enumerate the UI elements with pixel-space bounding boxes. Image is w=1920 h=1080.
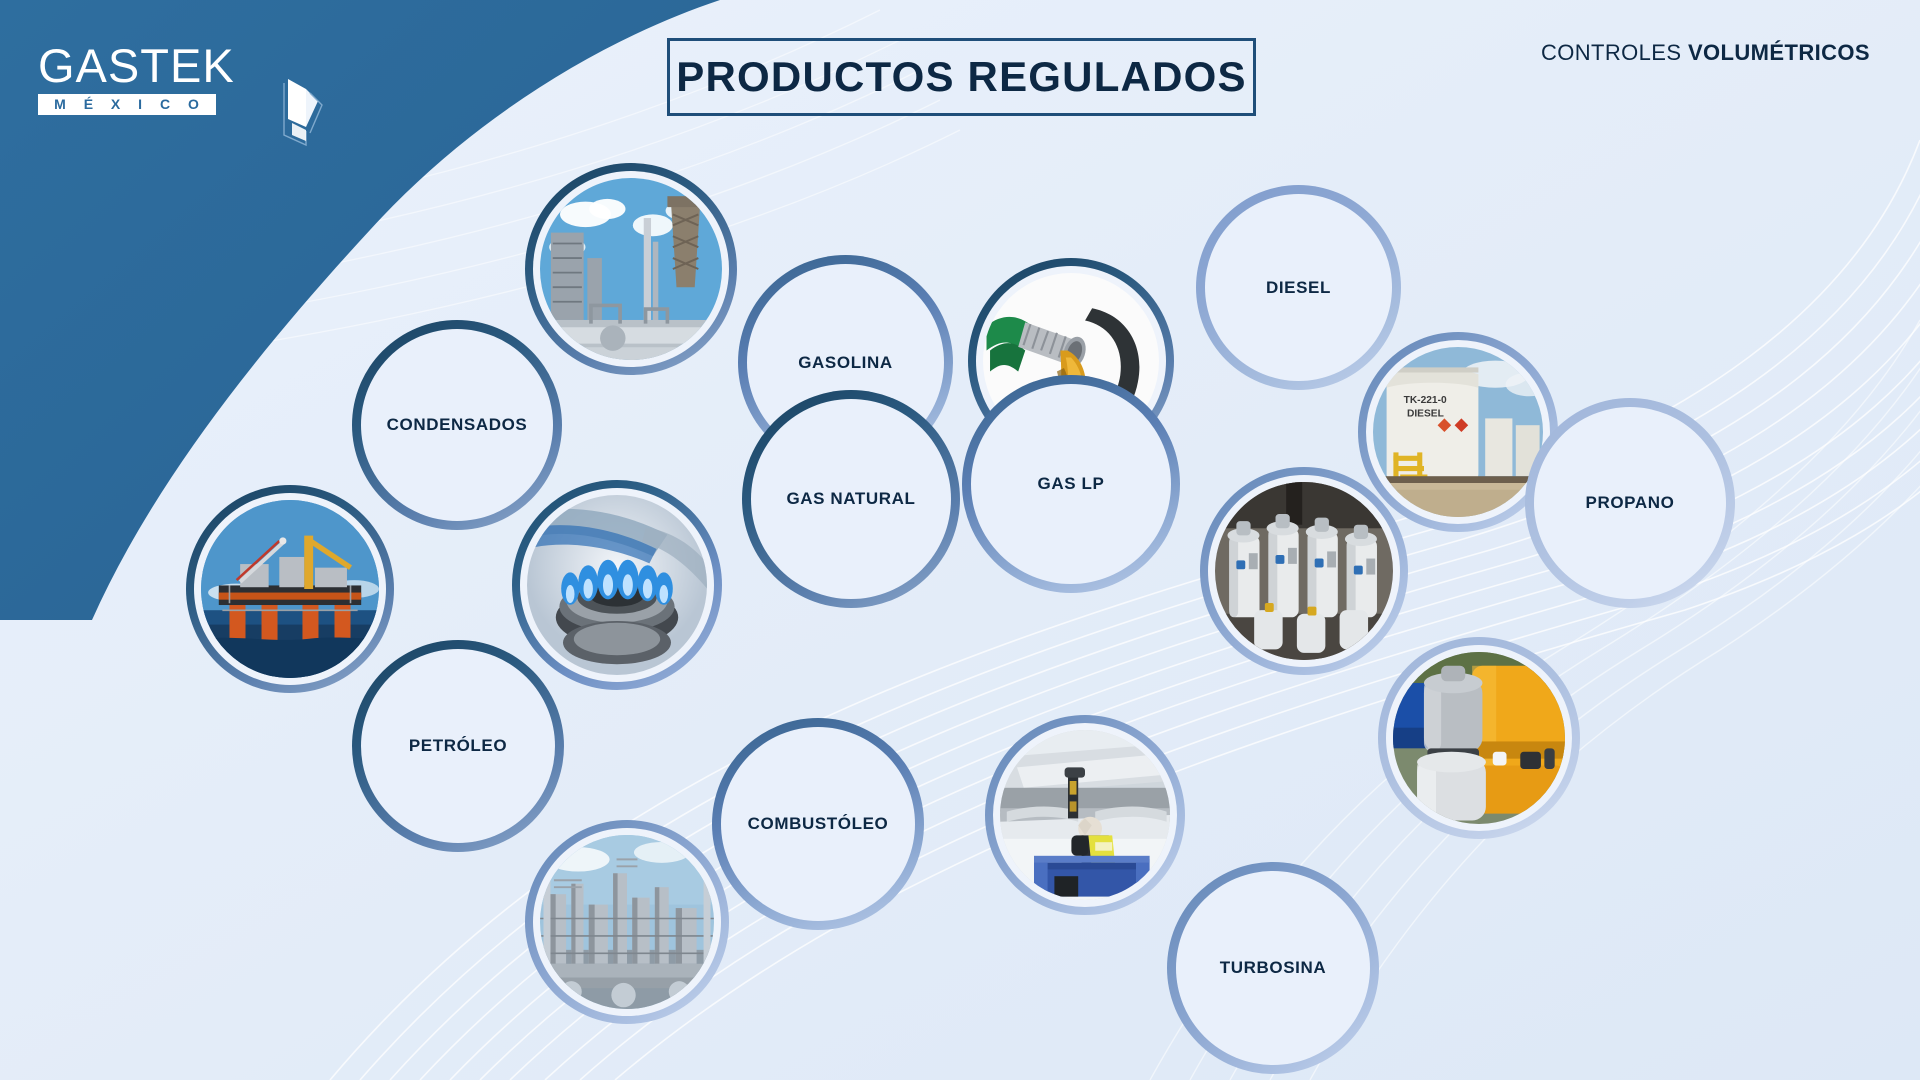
circle-inner: CONDENSADOS — [361, 329, 553, 521]
product-label-gas-natural: GAS NATURAL — [786, 489, 915, 509]
product-label-combustoleo: COMBUSTÓLEO — [748, 814, 889, 834]
tagline-bold: VOLUMÉTRICOS — [1688, 40, 1870, 65]
photo-ring-gap — [533, 171, 729, 367]
circle-inner: PETRÓLEO — [361, 649, 555, 843]
product-label-propano: PROPANO — [1586, 493, 1675, 513]
logo-subtitle-bar: M É X I C O — [38, 94, 216, 115]
circle-inner: COMBUSTÓLEO — [721, 727, 915, 921]
product-label-gasolina: GASOLINA — [798, 353, 893, 373]
circle-inner: PROPANO — [1534, 407, 1726, 599]
logo-subtitle: M É X I C O — [38, 97, 216, 111]
gas-plant-photo — [540, 178, 722, 360]
brand-logo: GASTEK M É X I C O — [38, 42, 318, 142]
photo-ring-gap — [1386, 645, 1572, 831]
gas-burner-photo — [527, 495, 707, 675]
product-label-gas-lp: GAS LP — [1038, 474, 1105, 494]
product-circle-combustoleo[interactable]: COMBUSTÓLEO — [712, 718, 924, 930]
photo-ring-gap — [1208, 475, 1400, 667]
photo-circle-gas-burner — [512, 480, 722, 690]
photo-circle-refinery — [525, 820, 729, 1024]
photo-ring-gap — [993, 723, 1177, 907]
photo-circle-aircraft-fueling — [985, 715, 1185, 915]
product-label-condensados: CONDENSADOS — [387, 415, 528, 435]
product-label-petroleo: PETRÓLEO — [409, 736, 507, 756]
circle-inner: TURBOSINA — [1176, 871, 1370, 1065]
photo-ring-gap: TK-221-0 DIESEL — [1366, 340, 1550, 524]
lp-cylinders-photo — [1215, 482, 1393, 660]
product-circle-turbosina[interactable]: TURBOSINA — [1167, 862, 1379, 1074]
circle-inner: GAS LP — [971, 384, 1171, 584]
product-label-turbosina: TURBOSINA — [1220, 958, 1326, 978]
tagline: CONTROLES VOLUMÉTRICOS — [1541, 40, 1870, 66]
product-circle-petroleo[interactable]: PETRÓLEO — [352, 640, 564, 852]
photo-circle-offshore-rig — [186, 485, 394, 693]
photo-ring-gap — [520, 488, 714, 682]
page-title: PRODUCTOS REGULADOS — [676, 53, 1246, 101]
photo-circle-lp-cylinders — [1200, 467, 1408, 675]
tagline-light: CONTROLES — [1541, 40, 1688, 65]
diesel-tank-photo: TK-221-0 DIESEL — [1373, 347, 1543, 517]
svg-text:DIESEL: DIESEL — [1407, 409, 1444, 420]
colored-tanks-photo — [1393, 652, 1565, 824]
gastek-flag-mark-icon — [266, 75, 328, 147]
product-label-diesel: DIESEL — [1266, 278, 1331, 298]
product-circle-condensados[interactable]: CONDENSADOS — [352, 320, 562, 530]
product-circle-gas-natural[interactable]: GAS NATURAL — [742, 390, 960, 608]
photo-ring-gap — [533, 828, 721, 1016]
slide-title-box: PRODUCTOS REGULADOS — [667, 38, 1256, 116]
product-circle-gas-lp[interactable]: GAS LP — [962, 375, 1180, 593]
photo-circle-gas-plant — [525, 163, 737, 375]
product-circle-propano[interactable]: PROPANO — [1525, 398, 1735, 608]
offshore-rig-photo — [201, 500, 379, 678]
slide-canvas: GASTEK M É X I C O PRODUCTOS REGULADOS C… — [0, 0, 1920, 1080]
photo-ring-gap — [194, 493, 386, 685]
circle-inner: GAS NATURAL — [751, 399, 951, 599]
refinery-photo — [540, 835, 714, 1009]
aircraft-fueling-photo — [1000, 730, 1170, 900]
svg-text:TK-221-0: TK-221-0 — [1404, 395, 1447, 406]
circle-inner: DIESEL — [1205, 194, 1392, 381]
product-circle-diesel[interactable]: DIESEL — [1196, 185, 1401, 390]
photo-circle-colored-tanks — [1378, 637, 1580, 839]
